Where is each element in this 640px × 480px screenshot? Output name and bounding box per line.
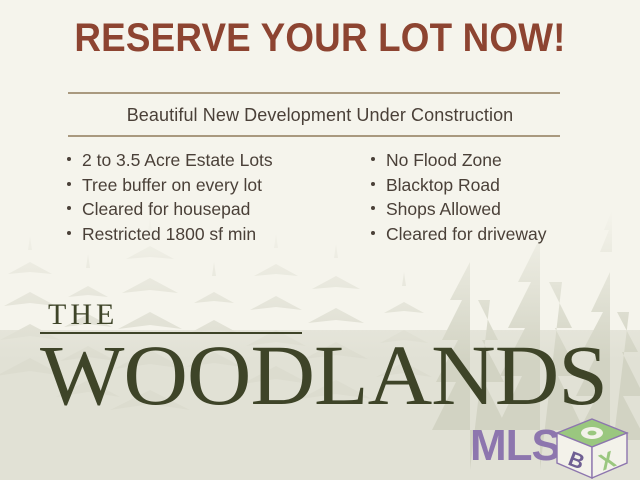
feature-text: 2 to 3.5 Acre Estate Lots [82,150,273,170]
mls-wordmark: MLS [470,424,560,468]
bullet-icon [371,182,375,186]
feature-column-right: No Flood Zone Blacktop Road Shops Allowe… [368,148,584,246]
feature-column-left: 2 to 3.5 Acre Estate Lots Tree buffer on… [64,148,324,246]
divider-bottom [68,135,560,137]
bullet-icon [67,206,71,210]
real-estate-ad: RESERVE YOUR LOT NOW! Beautiful New Deve… [0,0,640,480]
feature-text: Tree buffer on every lot [82,175,262,195]
list-item: 2 to 3.5 Acre Estate Lots [64,148,324,173]
divider-top [68,92,560,94]
feature-text: Cleared for driveway [386,224,546,244]
list-item: Blacktop Road [368,173,584,198]
bullet-icon [67,182,71,186]
feature-text: No Flood Zone [386,150,502,170]
bullet-icon [371,231,375,235]
feature-text: Blacktop Road [386,175,500,195]
list-item: No Flood Zone [368,148,584,173]
bullet-icon [67,231,71,235]
feature-columns: 2 to 3.5 Acre Estate Lots Tree buffer on… [64,148,584,246]
page-title: RESERVE YOUR LOT NOW! [26,16,615,60]
bullet-icon [67,157,71,161]
subtitle: Beautiful New Development Under Construc… [0,103,640,127]
mls-cube-icon: B X [555,418,629,480]
list-item: Restricted 1800 sf min [64,222,324,247]
feature-text: Cleared for housepad [82,199,250,219]
brand-logo-name: WOODLANDS [40,332,607,418]
bullet-icon [371,157,375,161]
list-item: Cleared for housepad [64,197,324,222]
brand-logo-the: THE [40,300,302,330]
list-item: Shops Allowed [368,197,584,222]
bullet-icon [371,206,375,210]
list-item: Tree buffer on every lot [64,173,324,198]
mls-box-watermark: MLS B X [470,418,630,480]
feature-text: Restricted 1800 sf min [82,224,256,244]
feature-list-right: No Flood Zone Blacktop Road Shops Allowe… [368,148,584,246]
feature-text: Shops Allowed [386,199,501,219]
list-item: Cleared for driveway [368,222,584,247]
feature-list-left: 2 to 3.5 Acre Estate Lots Tree buffer on… [64,148,324,246]
